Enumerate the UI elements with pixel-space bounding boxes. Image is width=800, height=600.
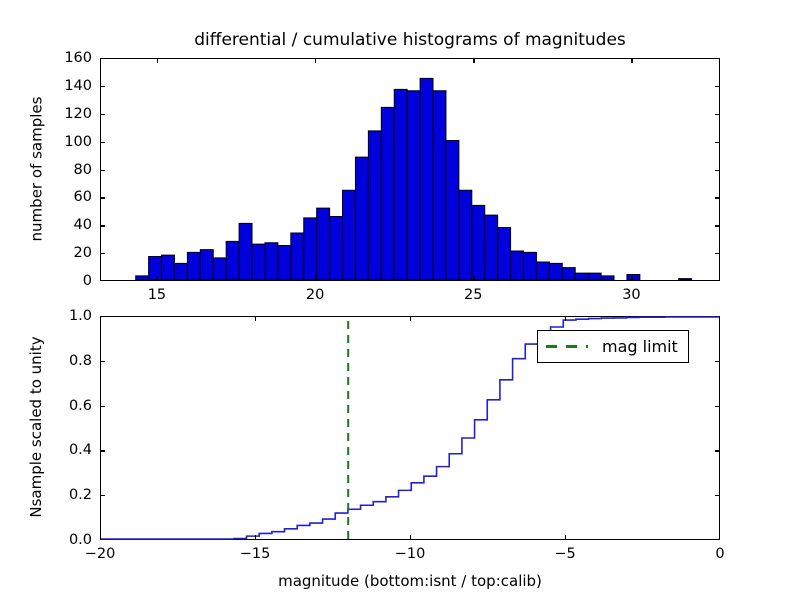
legend-label-mag-limit: mag limit: [602, 337, 678, 356]
y-tick-label: 0.6: [40, 398, 92, 414]
y-tick-label: 160: [40, 50, 92, 66]
histogram-bar: [213, 258, 226, 280]
y-tick-mark: [715, 495, 720, 496]
histogram-bar: [433, 91, 446, 280]
figure-canvas: differential / cumulative histograms of …: [0, 0, 800, 600]
y-tick-mark: [715, 142, 720, 143]
y-tick-label: 0.4: [40, 442, 92, 458]
y-tick-mark: [715, 86, 720, 87]
y-tick-label: 0.8: [40, 353, 92, 369]
histogram-bar: [485, 215, 498, 280]
y-tick-mark: [100, 450, 105, 451]
y-tick-label: 80: [40, 162, 92, 178]
histogram-bar: [459, 190, 472, 280]
y-tick-label: 100: [40, 134, 92, 150]
y-tick-label: 1.0: [40, 308, 92, 324]
y-tick-label: 140: [40, 78, 92, 94]
histogram-bar: [446, 140, 459, 280]
histogram-bar: [304, 218, 317, 280]
histogram-bars: [136, 78, 692, 280]
y-tick-mark: [100, 253, 105, 254]
y-tick-mark: [100, 361, 105, 362]
x-tick-mark: [410, 535, 411, 540]
y-tick-label: 40: [40, 217, 92, 233]
histogram-bar: [601, 276, 614, 280]
histogram-bar: [149, 257, 162, 280]
y-tick-mark: [715, 450, 720, 451]
differential-histogram-axes: [100, 58, 720, 281]
x-tick-label: 30: [622, 287, 640, 303]
x-tick-mark: [315, 276, 316, 281]
y-tick-mark: [100, 114, 105, 115]
histogram-bar: [252, 244, 265, 280]
histogram-bar: [355, 157, 368, 280]
histogram-bar: [174, 263, 187, 280]
histogram-bar: [394, 89, 407, 280]
histogram-bar: [472, 205, 485, 280]
histogram-bar: [200, 250, 213, 280]
chart-title: differential / cumulative histograms of …: [100, 30, 720, 50]
histogram-bar: [498, 228, 511, 280]
x-tick-mark: [631, 276, 632, 281]
histogram-bar: [317, 208, 330, 280]
y-tick-label: 0: [40, 273, 92, 289]
legend: mag limit: [537, 330, 689, 363]
x-tick-label: −15: [240, 546, 271, 562]
bottom-y-axis-label: Nsample scaled to unity: [27, 315, 45, 539]
x-tick-mark: [157, 276, 158, 281]
mag-limit-line-icon: [546, 345, 588, 348]
x-tick-mark: [157, 58, 158, 63]
histogram-bar: [407, 91, 420, 280]
y-tick-mark: [100, 406, 105, 407]
y-tick-label: 120: [40, 106, 92, 122]
x-tick-label: −20: [85, 546, 116, 562]
y-tick-mark: [715, 114, 720, 115]
histogram-bar: [162, 255, 175, 280]
differential-histogram-plot: [101, 59, 719, 280]
histogram-bar: [679, 279, 692, 280]
y-tick-mark: [715, 225, 720, 226]
histogram-bar: [239, 223, 252, 280]
histogram-bar: [524, 252, 537, 280]
histogram-bar: [562, 268, 575, 280]
x-tick-label: 25: [464, 287, 482, 303]
y-tick-mark: [100, 86, 105, 87]
histogram-bar: [330, 216, 343, 280]
x-tick-mark: [631, 58, 632, 63]
x-tick-label: −10: [395, 546, 426, 562]
y-tick-label: 20: [40, 245, 92, 261]
histogram-bar: [226, 241, 239, 280]
y-tick-label: 0.2: [40, 487, 92, 503]
y-tick-mark: [715, 361, 720, 362]
y-tick-mark: [715, 197, 720, 198]
histogram-bar: [536, 262, 549, 280]
histogram-bar: [627, 274, 640, 280]
top-y-axis-label: number of samples: [27, 57, 45, 280]
x-axis-label: magnitude (bottom:isnt / top:calib): [100, 572, 720, 590]
x-tick-label: 15: [148, 287, 166, 303]
histogram-bar: [420, 78, 433, 280]
x-tick-mark: [255, 316, 256, 321]
histogram-bar: [343, 190, 356, 280]
y-tick-mark: [100, 170, 105, 171]
x-tick-mark: [565, 316, 566, 321]
histogram-bar: [291, 233, 304, 280]
histogram-bar: [265, 243, 278, 280]
x-tick-label: 0: [715, 546, 724, 562]
histogram-bar: [368, 131, 381, 280]
y-tick-mark: [715, 406, 720, 407]
x-tick-mark: [565, 535, 566, 540]
histogram-bar: [278, 245, 291, 280]
x-tick-mark: [473, 58, 474, 63]
histogram-bar: [575, 273, 588, 280]
histogram-bar: [511, 251, 524, 280]
y-tick-mark: [100, 197, 105, 198]
x-tick-label: 20: [306, 287, 324, 303]
y-tick-mark: [100, 495, 105, 496]
y-tick-mark: [100, 225, 105, 226]
y-tick-mark: [715, 253, 720, 254]
histogram-bar: [136, 276, 149, 280]
y-tick-label: 60: [40, 189, 92, 205]
x-tick-mark: [315, 58, 316, 63]
histogram-bar: [381, 107, 394, 280]
histogram-bar: [187, 252, 200, 280]
x-tick-mark: [473, 276, 474, 281]
y-tick-mark: [100, 142, 105, 143]
histogram-bar: [549, 263, 562, 280]
x-tick-mark: [255, 535, 256, 540]
x-tick-label: −5: [554, 546, 575, 562]
y-tick-mark: [715, 170, 720, 171]
histogram-bar: [588, 273, 601, 280]
x-tick-mark: [410, 316, 411, 321]
